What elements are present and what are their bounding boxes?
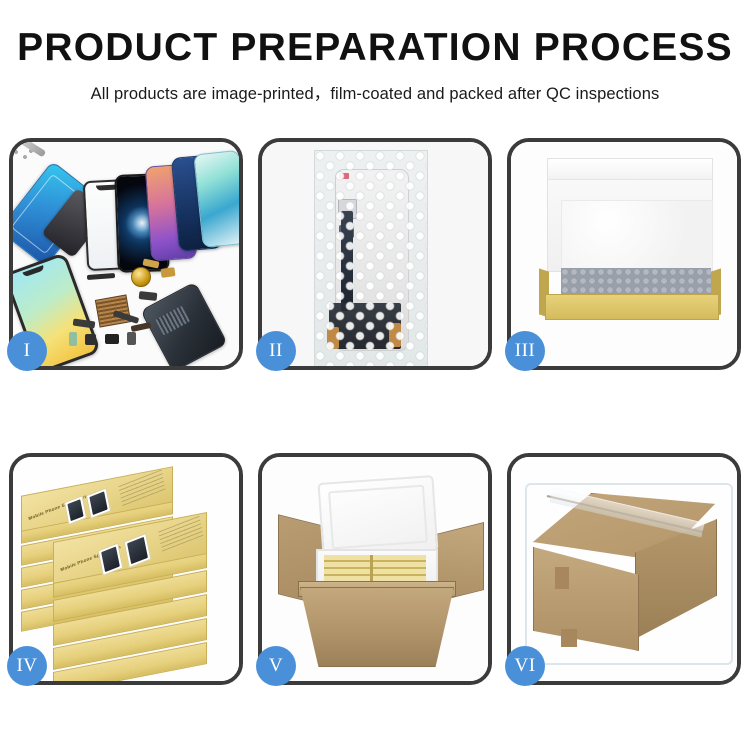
bubble-wrap-layer — [561, 268, 711, 294]
bubble-wrap-bag — [314, 150, 428, 366]
small-component-icon — [160, 267, 175, 278]
stacked-boxes-scene: Mobile Phone Spare Parts — [13, 457, 239, 681]
foam-sheet — [561, 200, 713, 270]
carton-packing-scene — [262, 457, 488, 681]
step-2-photo — [262, 142, 488, 366]
process-step-2: II — [258, 138, 492, 370]
carton-body — [300, 587, 454, 667]
process-step-4: Mobile Phone Spare Parts — [9, 453, 243, 685]
small-component-icon — [139, 291, 158, 301]
step-badge-4: IV — [7, 646, 47, 686]
bubble-texture — [315, 151, 427, 366]
small-component-icon — [85, 334, 96, 345]
sealed-carton-scene — [511, 457, 737, 681]
step-badge-2: II — [256, 331, 296, 371]
small-component-icon — [69, 332, 77, 346]
process-step-5: V — [258, 453, 492, 685]
step-1-photo — [13, 142, 239, 366]
step-5-photo — [262, 457, 488, 681]
process-step-6: VI — [507, 453, 741, 685]
step-badge-1: I — [7, 331, 47, 371]
speaker-coil-icon — [131, 267, 151, 287]
page-subtitle: All products are image-printed，film-coat… — [0, 80, 750, 104]
carton-tab-icon — [555, 567, 569, 589]
carton-tab-icon — [561, 629, 577, 647]
phones-and-parts-scene — [13, 142, 239, 366]
box-front-wall — [545, 294, 719, 320]
page-title: PRODUCT PREPARATION PROCESS — [0, 28, 750, 67]
styrofoam-lid — [317, 475, 438, 559]
step-badge-6: VI — [505, 646, 545, 686]
box-spec-lines — [158, 516, 204, 555]
box-spec-lines — [118, 469, 165, 507]
flex-cable-icon — [131, 322, 152, 332]
product-preparation-infographic: PRODUCT PREPARATION PROCESS All products… — [0, 0, 750, 750]
step-4-photo: Mobile Phone Spare Parts — [13, 457, 239, 681]
box-stack: Mobile Phone Spare Parts — [13, 457, 239, 681]
process-step-1: I — [9, 138, 243, 370]
small-component-icon — [127, 332, 136, 345]
box-window-right — [124, 533, 152, 568]
process-step-grid: I II — [9, 138, 741, 685]
open-box-scene — [511, 142, 737, 366]
process-step-3: III — [507, 138, 741, 370]
bubble-wrap-scene — [262, 142, 488, 366]
carton-front-face — [533, 539, 639, 651]
step-3-photo — [511, 142, 737, 366]
earpiece-bar-icon — [87, 273, 115, 280]
step-badge-3: III — [505, 331, 545, 371]
small-component-icon — [105, 334, 119, 344]
step-6-photo — [511, 457, 737, 681]
box-window-right — [86, 487, 111, 519]
step-badge-5: V — [256, 646, 296, 686]
header: PRODUCT PREPARATION PROCESS All products… — [0, 0, 750, 104]
